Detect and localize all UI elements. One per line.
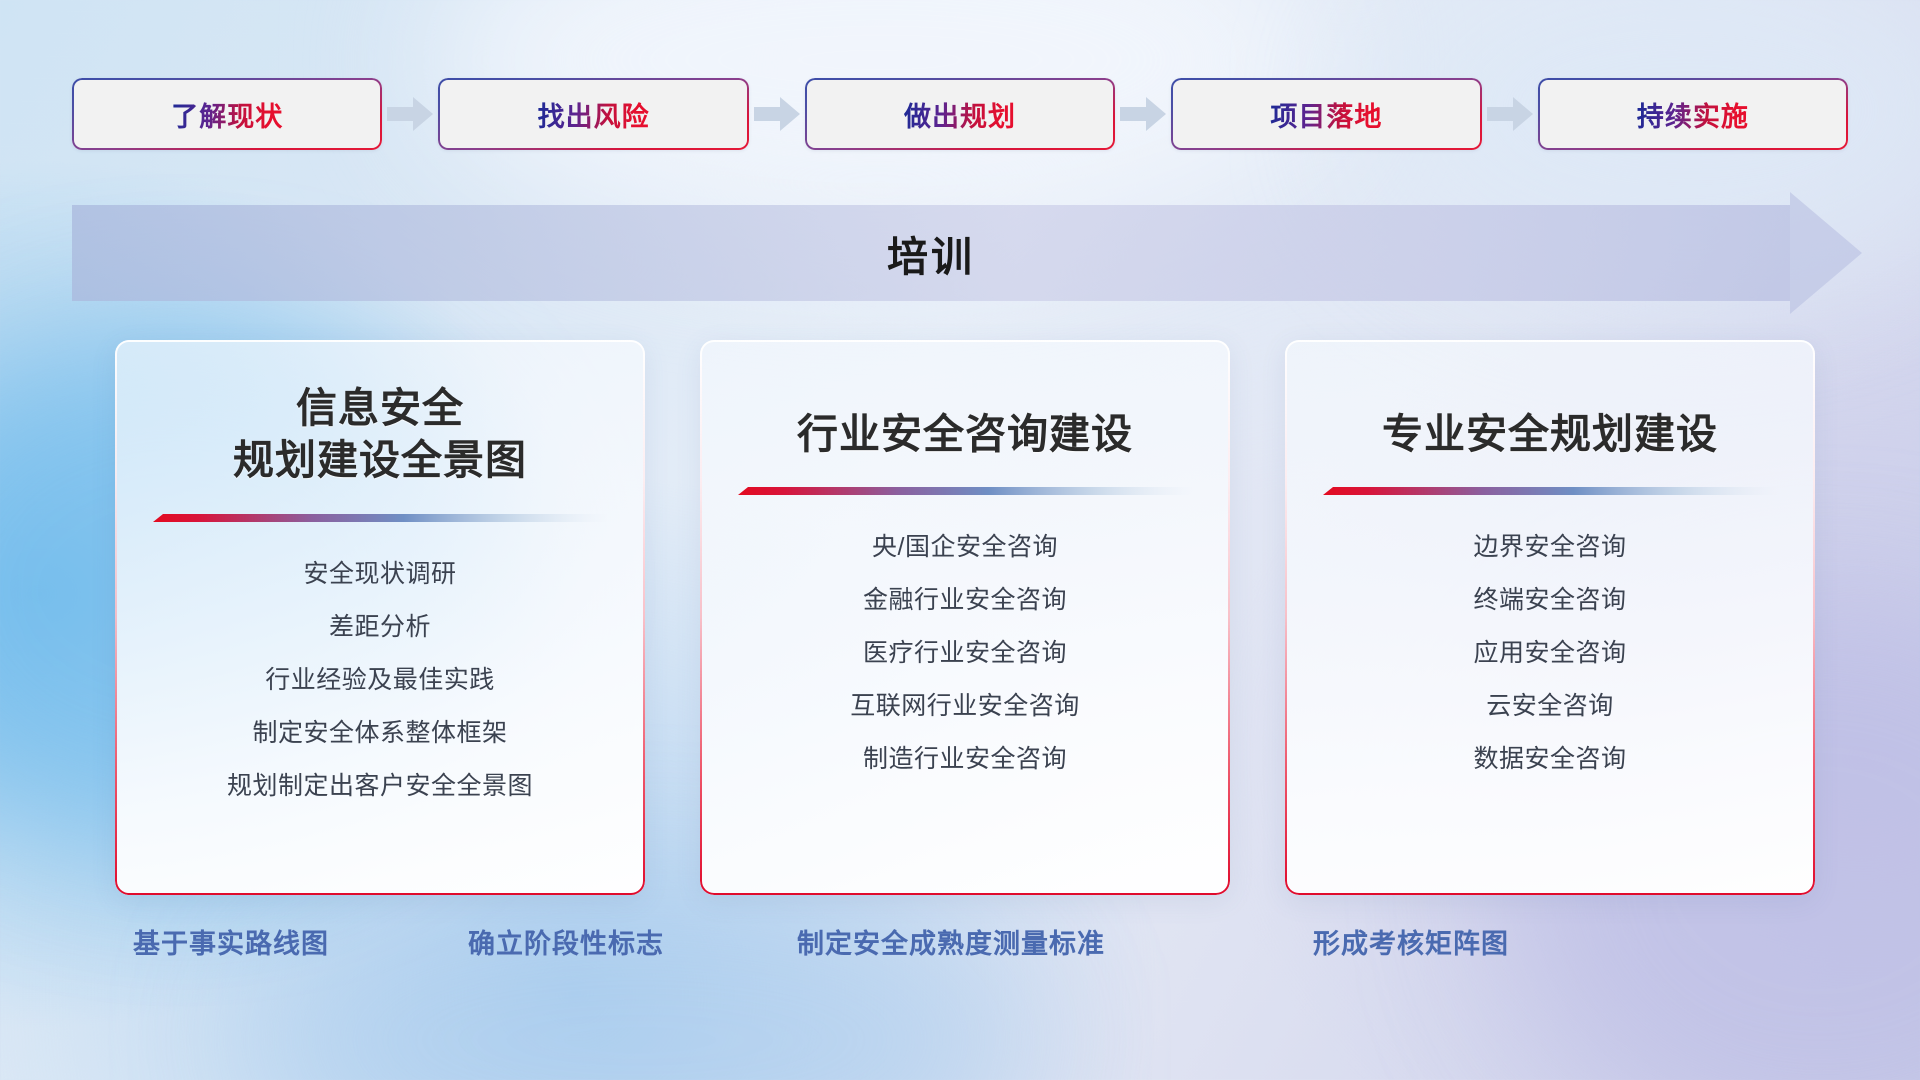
list-item: 规划制定出客户安全全景图: [115, 774, 645, 799]
step-chip-label: 项目落地: [1270, 95, 1382, 134]
list-item: 安全现状调研: [115, 562, 645, 587]
step-chip-3[interactable]: 做出规划: [805, 78, 1115, 150]
capability-card-2[interactable]: 行业安全咨询建设 央/国企安全咨询 金融行业安全咨询: [700, 340, 1230, 895]
title-accent-bar: [1323, 486, 1778, 499]
process-step-flow: 了解现状 找出风险 做出规划 项目落地 持续实施: [72, 78, 1848, 150]
card-title: 信息安全 规划建设全景图: [233, 382, 527, 487]
step-chip-4[interactable]: 项目落地: [1171, 78, 1481, 150]
list-item: 医疗行业安全咨询: [700, 641, 1230, 666]
training-banner: 培训: [72, 205, 1862, 301]
card-title: 专业安全规划建设: [1382, 408, 1718, 460]
caption-4: 形成考核矩阵图: [1313, 922, 1509, 961]
background-glow-bottom: [250, 880, 1030, 1080]
list-item: 数据安全咨询: [1285, 747, 1815, 772]
caption-2: 确立阶段性标志: [468, 922, 664, 961]
capability-card-3[interactable]: 专业安全规划建设 边界安全咨询 终端安全咨询: [1285, 340, 1815, 895]
arrow-right-icon: [382, 78, 438, 150]
step-chip-label: 做出规划: [904, 95, 1016, 134]
list-item: 应用安全咨询: [1285, 641, 1815, 666]
capability-card-1[interactable]: 信息安全 规划建设全景图 安全现状调研 差: [115, 340, 645, 895]
training-banner-title: 培训: [72, 205, 1862, 301]
card-item-list: 边界安全咨询 终端安全咨询 应用安全咨询 云安全咨询 数据安全咨询: [1285, 535, 1815, 772]
caption-1: 基于事实路线图: [133, 922, 329, 961]
list-item: 云安全咨询: [1285, 694, 1815, 719]
card-title-line: 信息安全: [233, 382, 527, 434]
card-title-line: 行业安全咨询建设: [797, 408, 1133, 460]
arrow-right-icon: [1115, 78, 1171, 150]
step-chip-1[interactable]: 了解现状: [72, 78, 382, 150]
arrow-right-icon: [1482, 78, 1538, 150]
step-chip-5[interactable]: 持续实施: [1538, 78, 1848, 150]
card-title-line: 专业安全规划建设: [1382, 408, 1718, 460]
card-title: 行业安全咨询建设: [797, 408, 1133, 460]
step-chip-label: 找出风险: [538, 95, 650, 134]
outcome-caption-row: 基于事实路线图 确立阶段性标志 制定安全成熟度测量标准 形成考核矩阵图: [0, 922, 1920, 970]
list-item: 央/国企安全咨询: [700, 535, 1230, 560]
list-item: 差距分析: [115, 615, 645, 640]
list-item: 终端安全咨询: [1285, 588, 1815, 613]
card-item-list: 安全现状调研 差距分析 行业经验及最佳实践 制定安全体系整体框架 规划制定出客户…: [115, 562, 645, 799]
arrow-right-icon: [749, 78, 805, 150]
card-title-line: 规划建设全景图: [233, 434, 527, 486]
step-chip-label: 持续实施: [1637, 95, 1749, 134]
card-item-list: 央/国企安全咨询 金融行业安全咨询 医疗行业安全咨询 互联网行业安全咨询 制造行…: [700, 535, 1230, 772]
title-accent-bar: [738, 486, 1193, 499]
list-item: 制定安全体系整体框架: [115, 721, 645, 746]
capability-card-group: 信息安全 规划建设全景图 安全现状调研 差: [115, 340, 1815, 895]
title-accent-bar: [153, 513, 608, 526]
step-chip-label: 了解现状: [171, 95, 283, 134]
list-item: 边界安全咨询: [1285, 535, 1815, 560]
list-item: 行业经验及最佳实践: [115, 668, 645, 693]
caption-3: 制定安全成熟度测量标准: [797, 922, 1105, 961]
step-chip-2[interactable]: 找出风险: [438, 78, 748, 150]
list-item: 金融行业安全咨询: [700, 588, 1230, 613]
list-item: 制造行业安全咨询: [700, 747, 1230, 772]
list-item: 互联网行业安全咨询: [700, 694, 1230, 719]
